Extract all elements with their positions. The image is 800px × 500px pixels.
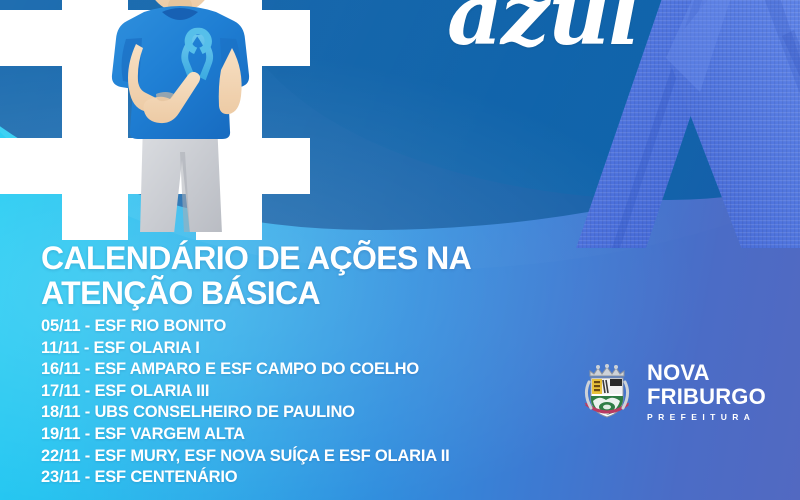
- logo-line-nova: NOVA: [647, 362, 766, 384]
- list-item: 17/11 - ESF OLARIA III: [41, 381, 449, 403]
- list-item: 23/11 - ESF CENTENÁRIO: [41, 467, 449, 489]
- headline-line-1: CALENDÁRIO DE AÇÕES NA: [41, 241, 471, 276]
- script-word-azul: azul: [447, 0, 639, 65]
- coat-of-arms-icon: [578, 362, 636, 422]
- headline-line-2: ATENÇÃO BÁSICA: [41, 276, 471, 311]
- list-item: 11/11 - ESF OLARIA I: [41, 338, 449, 360]
- awareness-campaign-poster: azul CALENDÁRIO DE AÇÕES NA ATENÇÃO BÁSI…: [0, 0, 800, 500]
- schedule-list: 05/11 - ESF RIO BONITO 11/11 - ESF OLARI…: [41, 316, 449, 489]
- list-item: 16/11 - ESF AMPARO E ESF CAMPO DO COELHO: [41, 359, 449, 381]
- page-title: CALENDÁRIO DE AÇÕES NA ATENÇÃO BÁSICA: [41, 241, 471, 311]
- logo-wordmark: NOVA FRIBURGO PREFEITURA: [647, 362, 766, 422]
- list-item: 18/11 - UBS CONSELHEIRO DE PAULINO: [41, 402, 449, 424]
- logo-line-friburgo: FRIBURGO: [647, 386, 766, 408]
- list-item: 19/11 - ESF VARGEM ALTA: [41, 424, 449, 446]
- logo-line-prefeitura: PREFEITURA: [647, 413, 766, 422]
- list-item: 22/11 - ESF MURY, ESF NOVA SUÍÇA E ESF O…: [41, 446, 449, 468]
- list-item: 05/11 - ESF RIO BONITO: [41, 316, 449, 338]
- character-illustration: [86, 0, 276, 232]
- city-logo: NOVA FRIBURGO PREFEITURA: [578, 362, 766, 422]
